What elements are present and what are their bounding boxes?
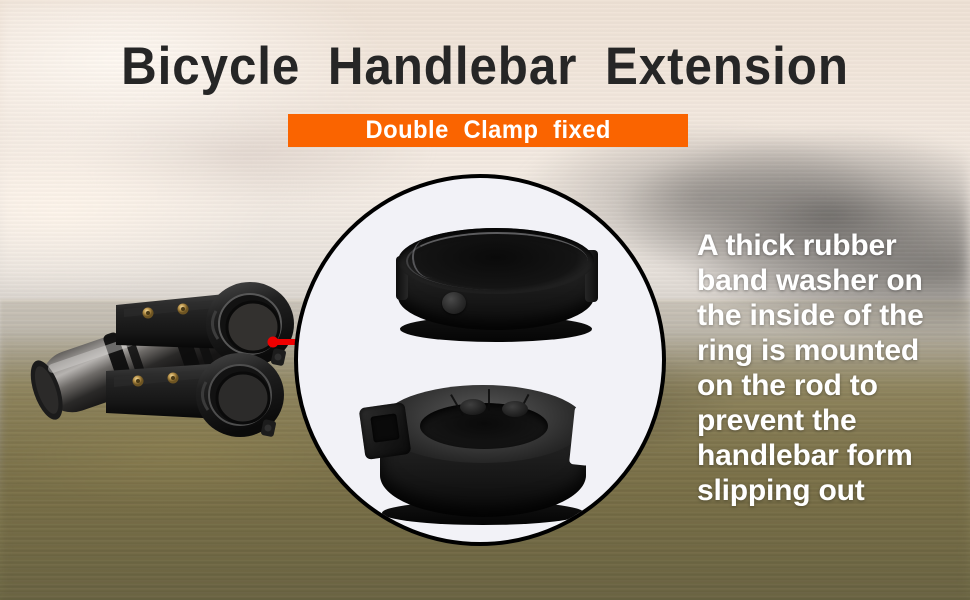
description-line: handlebar form (697, 438, 947, 473)
subtitle-ribbon-label: Double Clamp fixed (365, 116, 610, 145)
collar-rib-2 (488, 389, 490, 411)
subtitle-ribbon: Double Clamp fixed (288, 114, 688, 147)
description-line: band washer on (697, 263, 947, 298)
description-line: prevent the (697, 403, 947, 438)
rubber-band-washer-ring (398, 228, 594, 338)
banner-canvas: Bicycle Handlebar Extension Double Clamp… (0, 0, 970, 600)
description-line: the inside of the (697, 298, 947, 333)
collar-pad-2 (502, 401, 528, 417)
collar-pad-1 (460, 399, 486, 415)
clamp-ring-lower (196, 353, 284, 437)
product-detail-circle-inset (294, 174, 666, 546)
description-line: ring is mounted (697, 333, 947, 368)
collar-ear-slot (370, 413, 399, 442)
description-line: on the rod to (697, 368, 947, 403)
description-line: A thick rubber (697, 228, 947, 263)
page-title: Bicycle Handlebar Extension (34, 40, 936, 93)
description-text: A thick rubber band washer on the inside… (697, 228, 947, 508)
description-line: slipping out (697, 473, 947, 508)
ring-boss-stud (442, 292, 466, 314)
split-collar-ring (364, 383, 596, 523)
